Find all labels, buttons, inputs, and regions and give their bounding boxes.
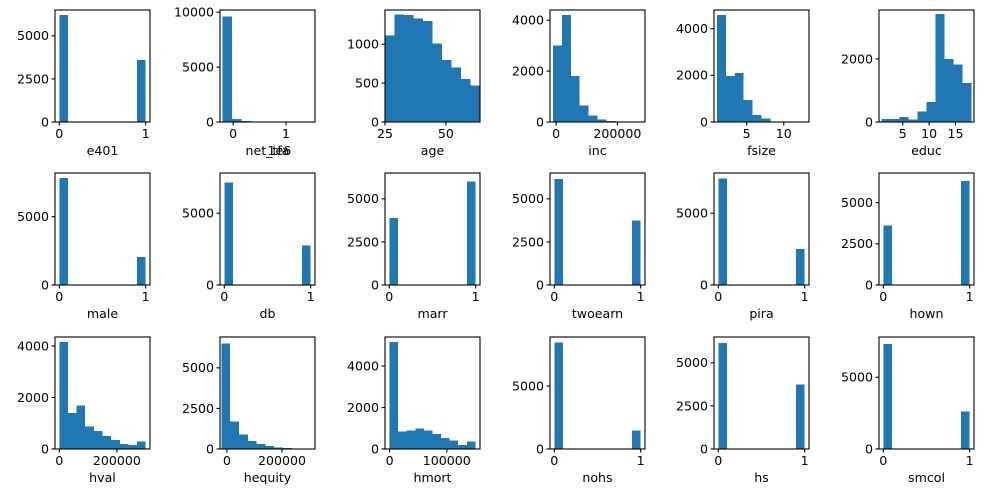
y-tick-label: 2500 <box>182 400 214 415</box>
bar <box>221 343 230 449</box>
y-tick-label: 2000 <box>347 400 379 415</box>
y-tick-label: 0 <box>41 441 49 456</box>
x-axis-label: marr <box>417 306 448 321</box>
bar <box>632 430 641 448</box>
y-tick-label: 4000 <box>347 358 379 373</box>
y-tick-label: 0 <box>371 278 379 293</box>
x-tick-label: 1 <box>142 289 150 304</box>
bar <box>470 85 479 122</box>
y-tick-label: 0 <box>371 441 379 456</box>
x-tick-label: 200000 <box>593 126 641 141</box>
y-tick-label: 5000 <box>182 360 214 375</box>
bars-fsize <box>717 15 770 122</box>
bar <box>406 430 415 449</box>
bar <box>466 441 475 448</box>
x-tick-label: 0 <box>385 289 393 304</box>
bar <box>398 431 407 449</box>
y-tick-label: 4000 <box>511 13 543 28</box>
histogram-panel-pira: 0500001pira <box>659 163 824 326</box>
histogram-panel-hequity: 0250050000200000hequity <box>165 327 330 490</box>
bar <box>77 405 86 448</box>
bar <box>796 249 805 285</box>
bar <box>451 68 460 122</box>
x-axis-label: inc <box>588 143 606 158</box>
bars-e401 <box>59 15 145 122</box>
x-tick-label: 1 <box>636 453 644 468</box>
x-tick-label: 0 <box>550 289 558 304</box>
axes-spines <box>549 337 644 449</box>
bar <box>404 15 413 122</box>
y-tick-label: 2500 <box>676 398 708 413</box>
bar <box>570 76 579 122</box>
y-tick-label: 2000 <box>511 63 543 78</box>
bar <box>588 116 597 122</box>
x-axis-label: pira <box>750 306 774 321</box>
bar <box>449 440 458 448</box>
bar <box>111 440 120 449</box>
x-tick-label: 15 <box>948 126 964 141</box>
x-tick-label: 0 <box>552 126 560 141</box>
x-axis-offset-label: 1e6 <box>267 143 291 158</box>
bar <box>883 344 892 449</box>
y-tick-label: 0 <box>535 114 543 129</box>
bars-twoearn <box>554 179 640 285</box>
histogram-panel-male: 0500001male <box>0 163 165 326</box>
bar <box>389 342 398 449</box>
x-tick-label: 1 <box>306 289 314 304</box>
x-axis-label: educ <box>911 143 942 158</box>
bar <box>554 342 563 448</box>
x-tick-label: 5 <box>743 126 751 141</box>
bar <box>918 112 927 122</box>
bar <box>735 73 744 122</box>
bar <box>423 21 432 122</box>
y-tick-label: 1000 <box>347 37 379 52</box>
y-tick-label: 2000 <box>676 68 708 83</box>
bar <box>94 431 103 449</box>
histogram-panel-nohs: 0500001nohs <box>495 327 660 490</box>
y-tick-label: 0 <box>865 441 873 456</box>
x-tick-label: 1 <box>801 289 809 304</box>
x-tick-label: 25 <box>377 126 393 141</box>
y-tick-label: 0 <box>206 278 214 293</box>
y-tick-label: 5000 <box>17 28 49 43</box>
histogram-panel-hval: 0200040000200000hval <box>0 327 165 490</box>
bar <box>461 79 470 122</box>
x-axis-label: nohs <box>582 470 612 485</box>
x-axis-label: hequity <box>244 470 292 485</box>
x-tick-label: 0 <box>55 289 63 304</box>
bar <box>256 444 265 449</box>
x-tick-label: 1 <box>966 453 974 468</box>
x-tick-label: 0 <box>223 453 231 468</box>
axes-spines <box>549 173 644 285</box>
bar <box>717 15 726 122</box>
histogram-panel-hown: 02500500001hown <box>824 163 989 326</box>
axes-spines <box>879 337 974 449</box>
y-tick-label: 2500 <box>347 235 379 250</box>
bar <box>385 36 394 122</box>
x-axis-label: hs <box>755 470 770 485</box>
x-tick-label: 0 <box>715 453 723 468</box>
axes-spines <box>220 173 315 285</box>
bars-db <box>224 183 310 286</box>
histogram-panel-age: 050010002550age <box>330 0 495 163</box>
y-tick-label: 0 <box>700 441 708 456</box>
y-tick-label: 10000 <box>174 5 214 20</box>
x-axis-label: male <box>87 306 118 321</box>
bar <box>128 445 137 449</box>
bar <box>59 342 68 449</box>
y-tick-label: 4000 <box>676 21 708 36</box>
bars-hval <box>59 342 145 449</box>
histogram-panel-net_tfa: 050001000001net_tfa1e6 <box>165 0 330 163</box>
bar <box>726 76 735 122</box>
histogram-panel-educ: 0200051015educ <box>824 0 989 163</box>
bar <box>137 441 146 448</box>
bar <box>68 413 77 449</box>
y-tick-label: 5000 <box>676 206 708 221</box>
x-tick-label: 50 <box>438 126 454 141</box>
y-tick-label: 2500 <box>511 235 543 250</box>
histogram-panel-fsize: 020004000510fsize <box>659 0 824 163</box>
x-tick-label: 5 <box>899 126 907 141</box>
y-tick-label: 2000 <box>841 51 873 66</box>
bar <box>441 438 450 449</box>
bar <box>120 444 129 449</box>
x-tick-label: 100000 <box>422 453 470 468</box>
x-axis-label: fsize <box>747 143 776 158</box>
bar <box>796 384 805 449</box>
bar <box>413 19 422 122</box>
y-tick-label: 5000 <box>17 209 49 224</box>
bars-hs <box>719 343 805 449</box>
histogram-panel-hs: 02500500001hs <box>659 327 824 490</box>
x-tick-label: 1 <box>471 289 479 304</box>
bar <box>394 15 403 122</box>
y-tick-label: 0 <box>700 278 708 293</box>
bar <box>883 226 892 285</box>
bar <box>230 421 239 449</box>
bar <box>222 17 231 122</box>
y-tick-label: 5000 <box>182 206 214 221</box>
bar <box>961 411 970 448</box>
y-tick-label: 0 <box>41 278 49 293</box>
bar <box>963 83 972 122</box>
y-tick-label: 5000 <box>511 192 543 207</box>
bar <box>762 118 771 122</box>
y-tick-label: 5000 <box>841 369 873 384</box>
axes-spines <box>714 337 809 449</box>
bar <box>936 14 945 122</box>
axes-spines <box>220 10 315 122</box>
bar <box>415 428 424 449</box>
bar <box>553 46 562 122</box>
histogram-panel-hmort: 0200040000100000hmort <box>330 327 495 490</box>
y-tick-label: 2500 <box>17 71 49 86</box>
bars-hown <box>883 182 969 286</box>
bar <box>719 179 728 285</box>
histogram-panel-inc: 0200040000200000inc <box>495 0 660 163</box>
bar <box>753 115 762 122</box>
axes-spines <box>879 173 974 285</box>
bars-marr <box>389 182 475 285</box>
y-tick-label: 2000 <box>17 390 49 405</box>
y-tick-label: 5000 <box>182 59 214 74</box>
bar <box>424 430 433 449</box>
bars-hmort <box>389 342 475 449</box>
bar <box>561 15 570 122</box>
y-tick-label: 0 <box>206 441 214 456</box>
x-axis-label: smcol <box>908 470 945 485</box>
x-tick-label: 200000 <box>93 453 141 468</box>
x-tick-label: 10 <box>776 126 792 141</box>
bars-educ <box>882 14 972 122</box>
x-tick-label: 0 <box>715 289 723 304</box>
y-tick-label: 0 <box>206 114 214 129</box>
bar <box>467 182 476 285</box>
x-axis-label: hown <box>910 306 944 321</box>
axes-spines <box>55 173 150 285</box>
bar <box>432 434 441 449</box>
axes-spines <box>385 173 480 285</box>
y-tick-label: 5000 <box>841 195 873 210</box>
y-tick-label: 0 <box>535 278 543 293</box>
y-tick-label: 500 <box>355 76 379 91</box>
bars-inc <box>553 15 642 122</box>
bar <box>59 15 68 122</box>
histogram-panel-db: 0500001db <box>165 163 330 326</box>
bar <box>248 441 257 449</box>
y-tick-label: 5000 <box>511 378 543 393</box>
bar <box>59 178 68 285</box>
bar <box>945 59 954 122</box>
bar <box>954 64 963 122</box>
bars-nohs <box>554 342 640 448</box>
x-axis-label: hval <box>89 470 116 485</box>
y-tick-label: 0 <box>700 114 708 129</box>
histogram-panel-smcol: 0500001smcol <box>824 327 989 490</box>
x-tick-label: 0 <box>879 453 887 468</box>
x-tick-label: 0 <box>55 453 63 468</box>
y-tick-label: 5000 <box>676 355 708 370</box>
x-axis-label: db <box>259 306 275 321</box>
axes-spines <box>55 10 150 122</box>
bar <box>554 179 563 285</box>
y-tick-label: 0 <box>865 278 873 293</box>
bar <box>458 445 467 449</box>
x-tick-label: 1 <box>142 126 150 141</box>
axes-spines <box>714 173 809 285</box>
y-tick-label: 0 <box>41 114 49 129</box>
x-tick-label: 1 <box>966 289 974 304</box>
x-tick-label: 1 <box>801 453 809 468</box>
x-axis-label: twoearn <box>571 306 622 321</box>
x-tick-label: 10 <box>921 126 937 141</box>
bar <box>632 221 641 286</box>
x-tick-label: 0 <box>220 289 228 304</box>
x-tick-label: 0 <box>550 453 558 468</box>
histogram-panel-marr: 02500500001marr <box>330 163 495 326</box>
bar <box>137 60 146 122</box>
bar <box>432 43 441 122</box>
bar <box>900 117 909 122</box>
bar <box>85 426 94 449</box>
bar <box>302 246 311 285</box>
x-tick-label: 0 <box>879 289 887 304</box>
histogram-grid-figure: 02500500001e401050001000001net_tfa1e6050… <box>0 0 989 490</box>
y-tick-label: 0 <box>535 441 543 456</box>
bar <box>927 102 936 122</box>
bar <box>102 436 111 449</box>
histogram-panel-twoearn: 02500500001twoearn <box>495 163 660 326</box>
bar <box>137 257 146 285</box>
x-tick-label: 0 <box>229 126 237 141</box>
bars-net_tfa <box>222 17 298 123</box>
x-axis-label: e401 <box>87 143 119 158</box>
x-tick-label: 0 <box>55 126 63 141</box>
x-axis-label: age <box>420 143 444 158</box>
bar <box>442 60 451 122</box>
histogram-panel-e401: 02500500001e401 <box>0 0 165 163</box>
bars-hequity <box>221 343 309 449</box>
bar <box>389 218 398 285</box>
y-tick-label: 2500 <box>841 237 873 252</box>
bars-male <box>59 178 145 285</box>
y-tick-label: 0 <box>865 114 873 129</box>
bars-age <box>385 15 480 122</box>
bar <box>224 183 233 286</box>
y-tick-label: 5000 <box>347 192 379 207</box>
bar <box>744 100 753 122</box>
bars-smcol <box>883 344 969 449</box>
x-tick-label: 1 <box>636 289 644 304</box>
bar <box>961 182 970 286</box>
y-tick-label: 4000 <box>17 338 49 353</box>
bar <box>719 343 728 449</box>
x-axis-label: hmort <box>413 470 451 485</box>
x-tick-label: 1 <box>282 126 290 141</box>
bar <box>579 105 588 122</box>
x-tick-label: 0 <box>385 453 393 468</box>
x-tick-label: 200000 <box>258 453 306 468</box>
bars-pira <box>719 179 805 285</box>
bar <box>239 434 248 449</box>
